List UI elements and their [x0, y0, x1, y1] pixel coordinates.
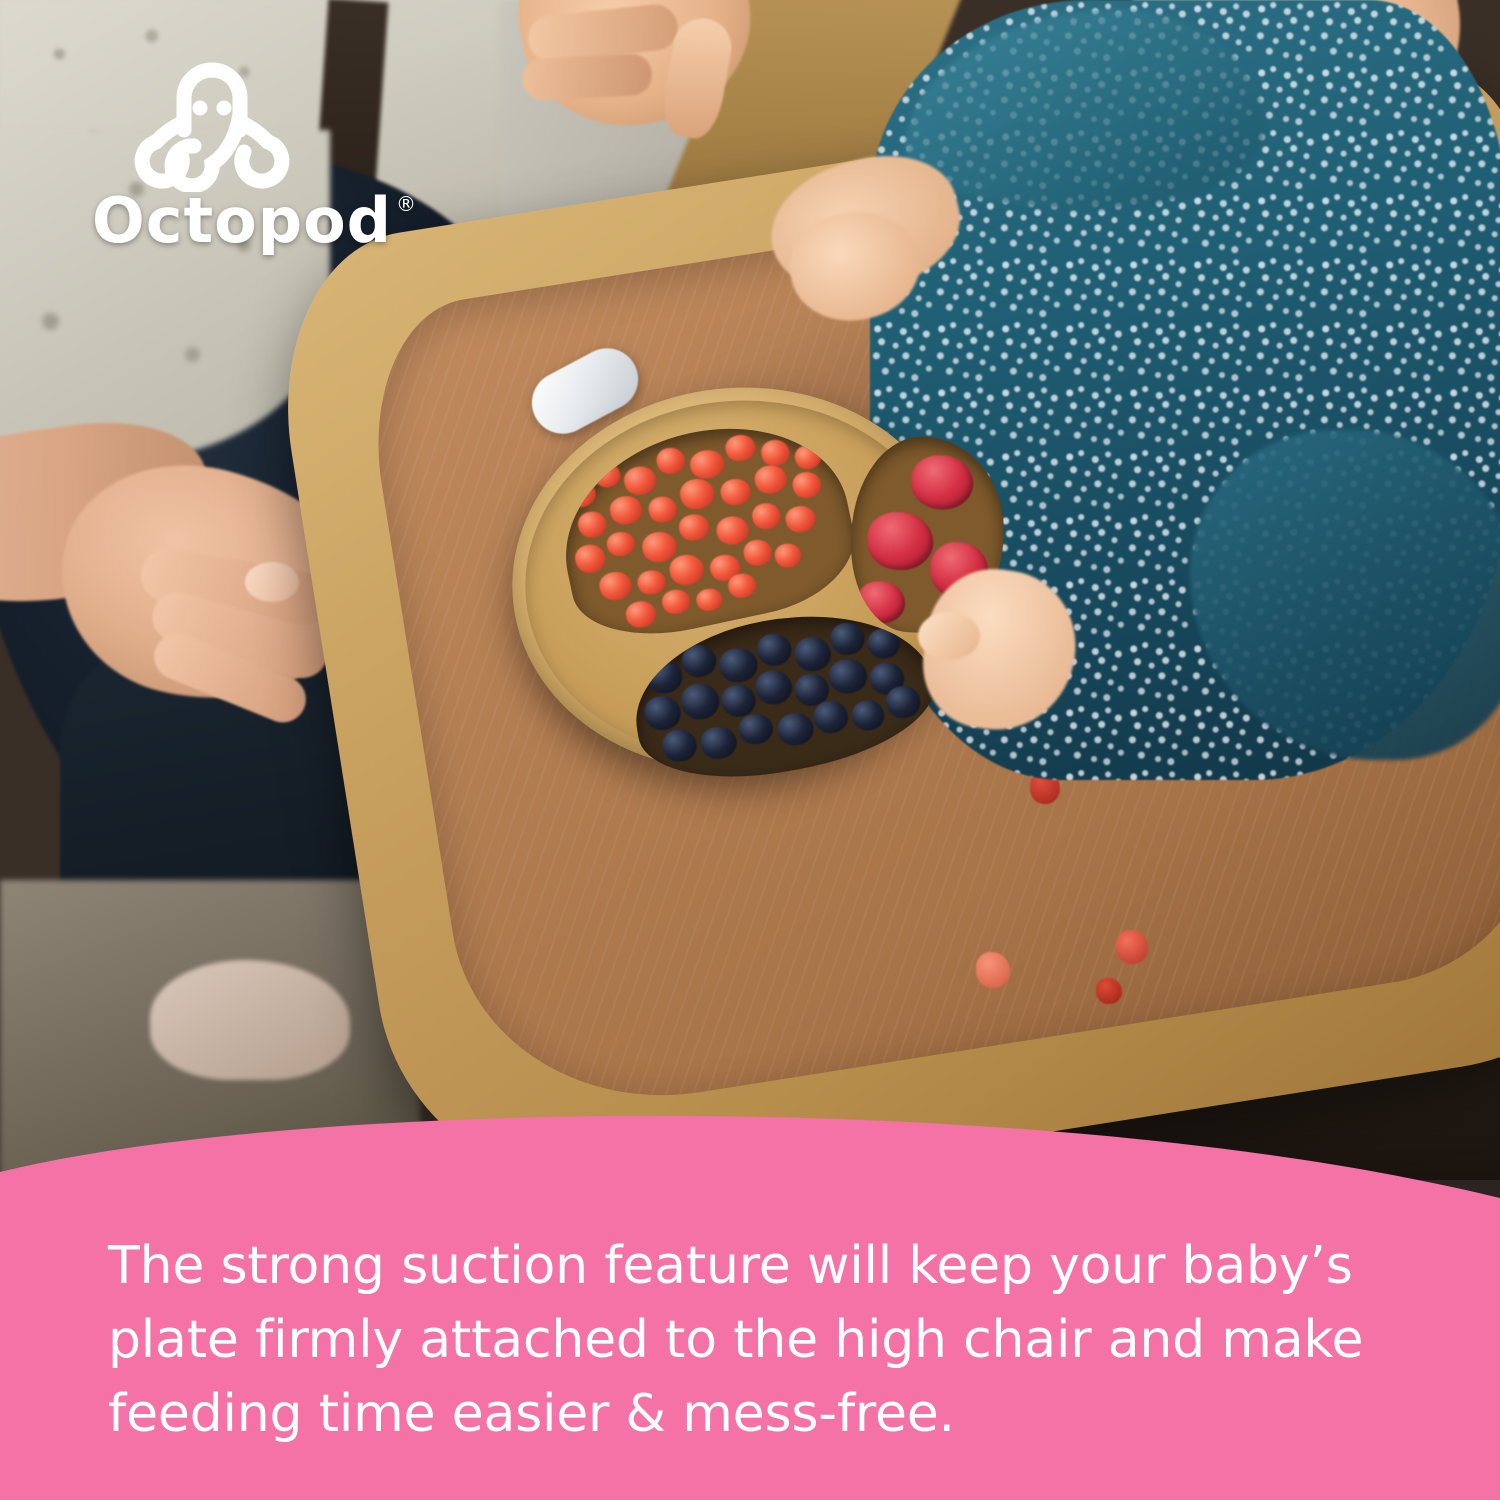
adult-thumbnail: [245, 562, 299, 602]
brand-name: Octopod: [92, 190, 392, 252]
octopus-eye-left: [193, 101, 208, 116]
scattered-strawberry-crumb: [1116, 930, 1148, 964]
registered-trademark-icon: ®: [396, 192, 416, 216]
baby-thumb: [918, 612, 980, 660]
brand-logo: Octopod ®: [92, 52, 422, 262]
plate-compartment-strawberries: [545, 404, 867, 652]
banner-headline: The strong suction feature will keep you…: [108, 1230, 1428, 1451]
octopus-icon: [132, 52, 292, 192]
scattered-strawberry-crumb: [1096, 978, 1122, 1004]
brand-wordmark: Octopod ®: [92, 190, 422, 260]
adult-pointing-finger: [521, 53, 653, 102]
marketing-banner: The strong suction feature will keep you…: [0, 1080, 1500, 1500]
product-marketing-image: Octopod ® The strong suction feature wil…: [0, 0, 1500, 1500]
scattered-strawberry-crumb: [976, 952, 1010, 988]
octopus-eye-right: [217, 101, 232, 116]
adult-foot: [150, 960, 350, 1080]
